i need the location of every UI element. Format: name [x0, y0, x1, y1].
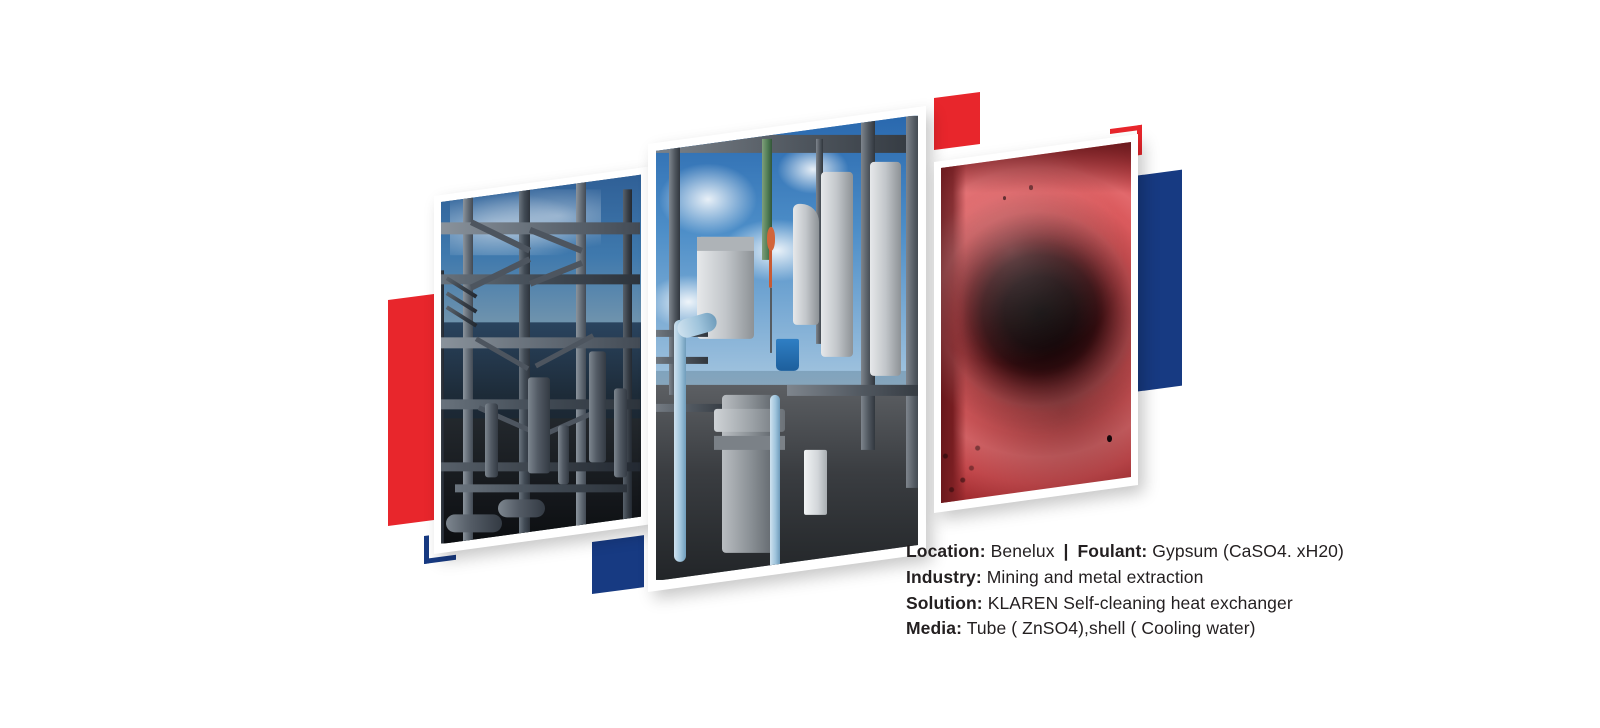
- solution-label: Solution:: [906, 593, 983, 613]
- detail-row-location-foulant: Location: Benelux | Foulant: Gypsum (CaS…: [906, 539, 1466, 565]
- field-engineers-at-heat-exchanger-image: [656, 116, 918, 580]
- location-label: Location:: [906, 541, 986, 561]
- detail-row-solution: Solution: KLAREN Self-cleaning heat exch…: [906, 591, 1466, 617]
- location-value: Benelux: [991, 541, 1055, 561]
- solution-value: KLAREN Self-cleaning heat exchanger: [988, 593, 1293, 613]
- foulant-value: Gypsum (CaSO4. xH20): [1152, 541, 1344, 561]
- case-study-details: Location: Benelux | Foulant: Gypsum (CaS…: [906, 539, 1466, 642]
- photo-frame: [941, 142, 1131, 503]
- photo-frame: [656, 115, 918, 581]
- detail-row-media: Media: Tube ( ZnSO4),shell ( Cooling wat…: [906, 616, 1466, 642]
- foulant-label: Foulant:: [1078, 541, 1148, 561]
- media-value: Tube ( ZnSO4),shell ( Cooling water): [967, 618, 1256, 638]
- photo-card-field-engineers[interactable]: [648, 106, 926, 592]
- slide-canvas: Location: Benelux | Foulant: Gypsum (CaS…: [0, 0, 1600, 728]
- photo-card-fouled-tube[interactable]: [934, 134, 1138, 513]
- fouled-tube-cross-section-image: [941, 142, 1131, 503]
- navy-square-decoration: [592, 535, 644, 594]
- red-vertical-bar-decoration: [388, 294, 434, 526]
- detail-separator: |: [1060, 541, 1073, 561]
- photo-card-industrial-plant[interactable]: [434, 167, 648, 554]
- industry-label: Industry:: [906, 567, 982, 587]
- industrial-plant-structure-image: [441, 175, 641, 544]
- media-label: Media:: [906, 618, 962, 638]
- photo-frame: [441, 175, 641, 544]
- red-square-decoration: [934, 92, 980, 150]
- navy-vertical-bar-decoration: [1134, 170, 1182, 392]
- industry-value: Mining and metal extraction: [987, 567, 1204, 587]
- detail-row-industry: Industry: Mining and metal extraction: [906, 565, 1466, 591]
